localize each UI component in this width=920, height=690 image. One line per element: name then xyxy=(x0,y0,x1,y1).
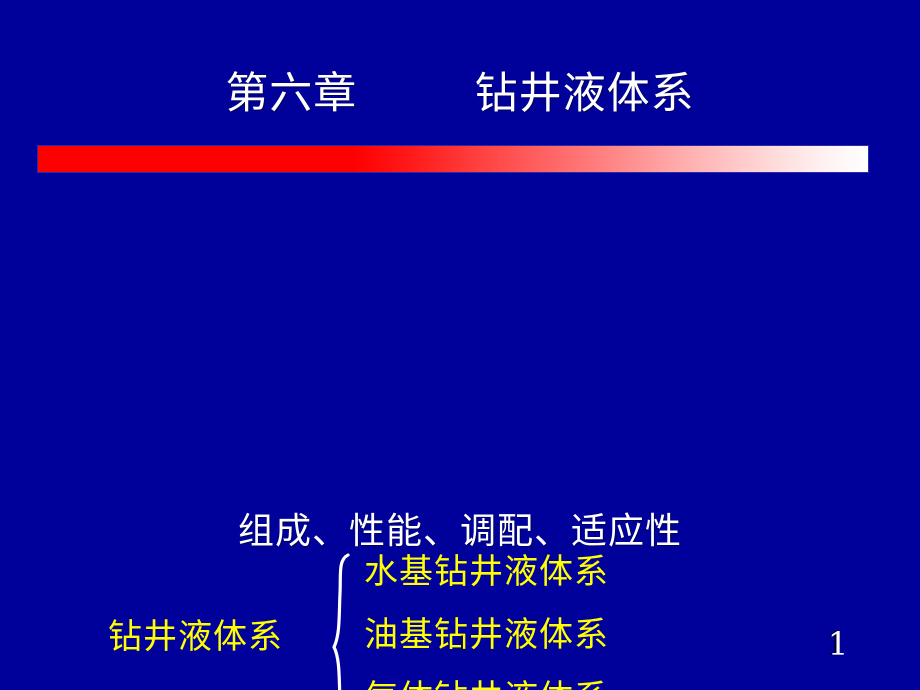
presentation-slide: 第六章 钻井液体系 钻井液体系 水基钻井液体系 油基钻井液体系 气体钻井液体系 … xyxy=(0,0,920,690)
summary-line: 组成、性能、调配、适应性 xyxy=(0,508,920,556)
diagram-group-label: 钻井液体系 xyxy=(108,615,308,659)
page-number: 1 xyxy=(818,624,858,664)
center-mark: 1 xyxy=(452,630,472,656)
left-curly-brace-icon xyxy=(322,553,356,690)
branch-item: 油基钻井液体系 xyxy=(364,603,784,666)
slide-title: 第六章 钻井液体系 xyxy=(0,68,920,120)
accent-gradient-bar xyxy=(38,146,868,172)
branch-item: 气体钻井液体系 xyxy=(364,666,784,690)
branch-list: 水基钻井液体系 油基钻井液体系 气体钻井液体系 xyxy=(364,540,784,690)
classification-diagram: 钻井液体系 水基钻井液体系 油基钻井液体系 气体钻井液体系 xyxy=(0,270,920,475)
